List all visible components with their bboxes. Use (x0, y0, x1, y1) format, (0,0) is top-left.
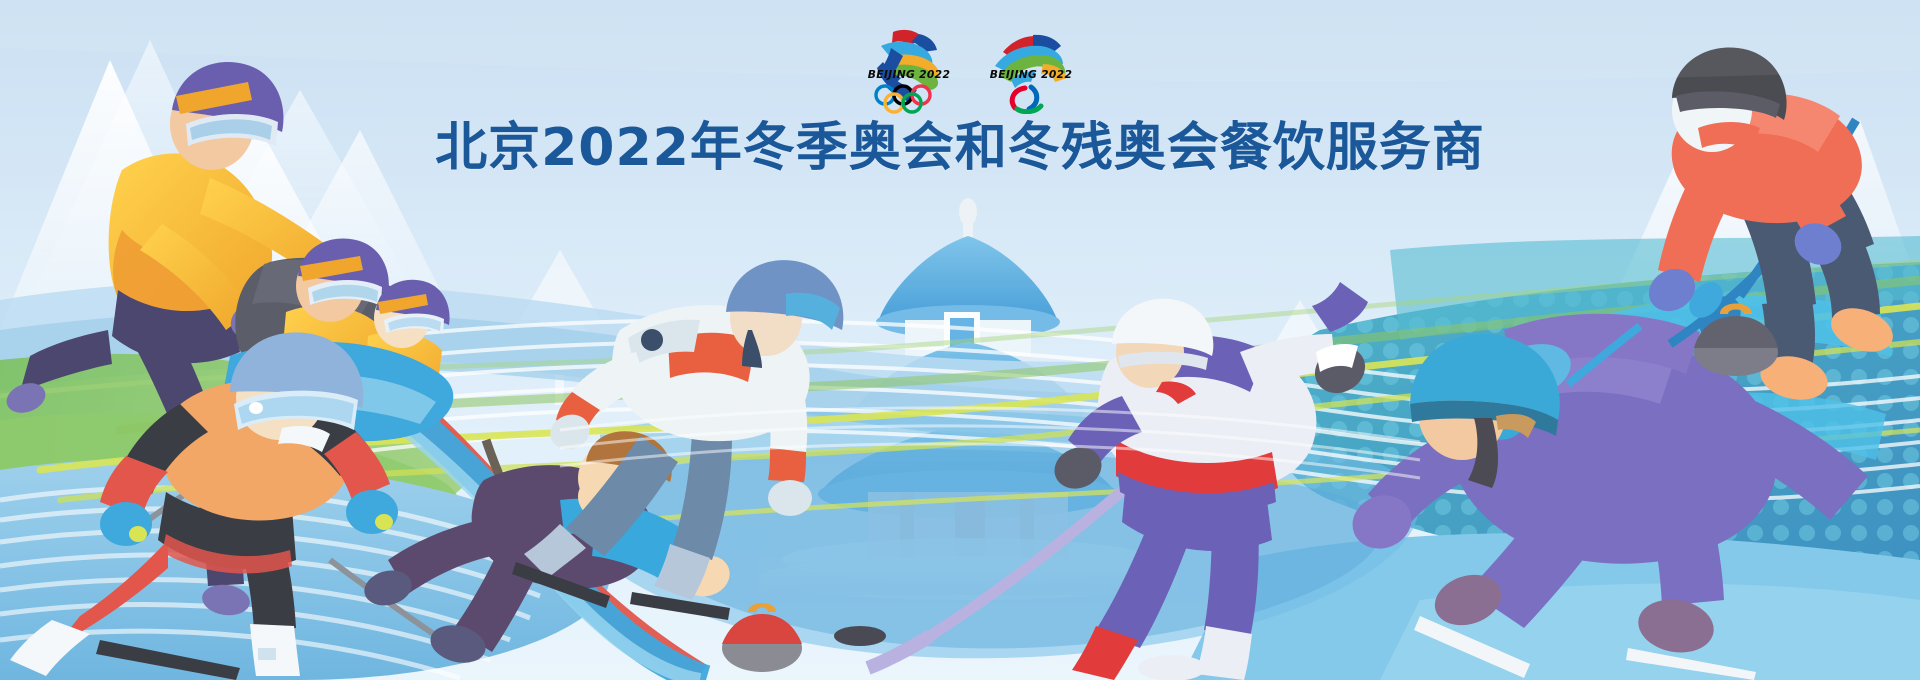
emblem-group: BEIJING 2022 (855, 22, 1085, 122)
olympic-rings-icon (876, 86, 930, 112)
beijing-2022-olympic-emblem: BEIJING 2022 (859, 22, 959, 122)
olympic-banner: BEIJING 2022 (0, 0, 1920, 680)
page-title: 北京2022年冬季奥会和冬残奥会餐饮服务商 (0, 120, 1920, 177)
olympic-wordmark: BEIJING 2022 (858, 69, 960, 81)
paralympic-wordmark: BEIJING 2022 (980, 69, 1082, 81)
agitos-icon (1012, 87, 1041, 112)
beijing-2022-paralympic-emblem: BEIJING 2022 (981, 22, 1081, 122)
